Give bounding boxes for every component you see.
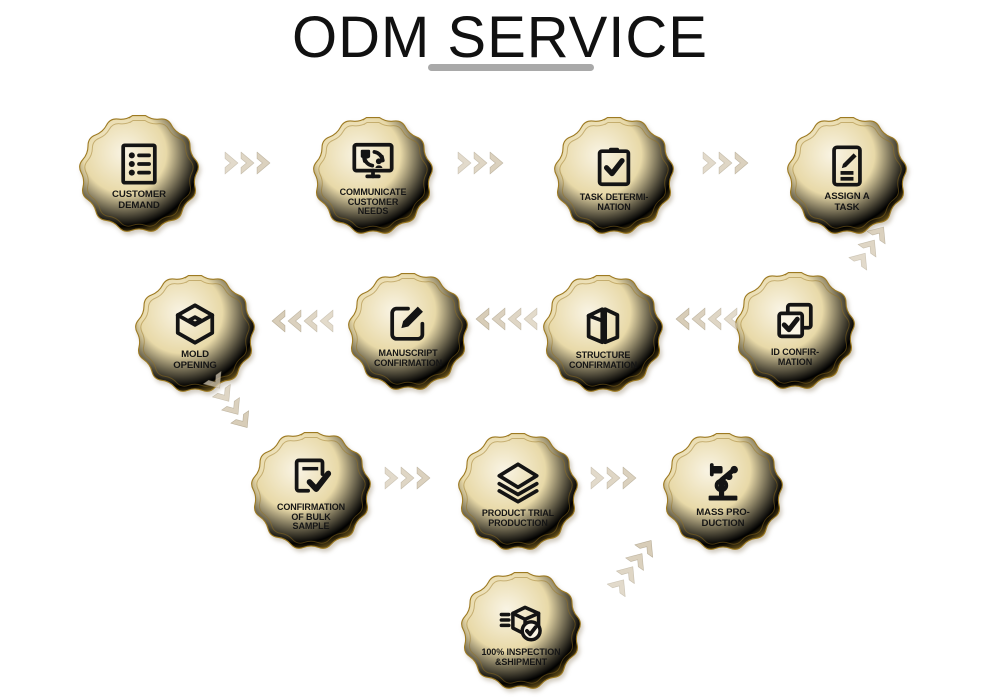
step-badge-communicate-customer-needs[interactable]: COMMUNICATE CUSTOMER NEEDS [310, 112, 436, 238]
chevron-left-icon [672, 306, 692, 332]
flow-arrow-left [472, 306, 540, 332]
chevron-left-icon [472, 306, 492, 332]
clipboard-check-icon [591, 144, 637, 190]
step-label-mass-production: MASS PRO- DUCTION [696, 508, 749, 529]
badge-content: ID CONFIR- MATION [732, 267, 858, 393]
badge-content: 100% INSPECTION &SHIPMENT [458, 567, 584, 693]
step-label-communicate-customer-needs: COMMUNICATE CUSTOMER NEEDS [340, 188, 407, 217]
badge-content: MOLD OPENING [132, 270, 258, 396]
flow-arrow-down-left [604, 530, 664, 601]
step-label-confirmation-of-bulk-sample: CONFIRMATION OF BULK SAMPLE [277, 503, 345, 532]
checklist-icon [116, 141, 162, 187]
cube-box-icon [172, 301, 218, 347]
badge-content: STRUCTURE CONFIRMATION [540, 270, 666, 396]
step-badge-customer-demand[interactable]: CUSTOMER DEMAND [76, 110, 202, 236]
badge-content: CUSTOMER DEMAND [76, 110, 202, 236]
chevron-right-icon [414, 465, 434, 491]
step-badge-mold-opening[interactable]: MOLD OPENING [132, 270, 258, 396]
package-check-icon [498, 599, 544, 645]
odm-service-flow-diagram: ODM SERVICE CUSTOMER DEMANDCOMMUNICATE C… [0, 0, 1000, 700]
edit-square-icon [385, 300, 431, 346]
flow-arrow-right [700, 150, 752, 176]
title-block: ODM SERVICE [0, 4, 1000, 72]
copy-check-icon [772, 299, 818, 345]
layers-icon [495, 460, 541, 506]
step-label-task-determination: TASK DETERMI- NATION [580, 193, 649, 212]
step-label-assign-a-task: ASSIGN A TASK [824, 192, 869, 213]
step-label-customer-demand: CUSTOMER DEMAND [112, 190, 166, 211]
badge-content: TASK DETERMI- NATION [551, 112, 677, 238]
chevron-left-icon [268, 308, 288, 334]
flow-arrow-right [588, 465, 640, 491]
page-title: ODM SERVICE [0, 4, 1000, 72]
step-label-structure-confirmation: STRUCTURE CONFIRMATION [569, 351, 637, 370]
structure-3d-icon [580, 302, 626, 348]
document-check-icon [288, 454, 334, 500]
step-badge-task-determination[interactable]: TASK DETERMI- NATION [551, 112, 677, 238]
chevron-right-icon [254, 150, 274, 176]
step-badge-assign-a-task[interactable]: ASSIGN A TASK [784, 112, 910, 238]
step-badge-structure-confirmation[interactable]: STRUCTURE CONFIRMATION [540, 270, 666, 396]
flow-arrow-right [222, 150, 274, 176]
step-badge-manuscript-confirmation[interactable]: MANUSCRIPT CONFIRMATION [345, 268, 471, 394]
badge-content: ASSIGN A TASK [784, 112, 910, 238]
flow-arrow-right [382, 465, 434, 491]
step-label-product-trial-production: PRODUCT TRIAL PRODUCTION [482, 509, 554, 528]
monitor-support-icon [350, 139, 396, 185]
badge-content: MASS PRO- DUCTION [660, 428, 786, 554]
badge-content: MANUSCRIPT CONFIRMATION [345, 268, 471, 394]
badge-content: COMMUNICATE CUSTOMER NEEDS [310, 112, 436, 238]
badge-content: PRODUCT TRIAL PRODUCTION [455, 428, 581, 554]
chevron-right-icon [732, 150, 752, 176]
flow-arrow-right [455, 150, 507, 176]
flow-arrow-left [268, 308, 336, 334]
title-underline [428, 64, 594, 71]
step-label-manuscript-confirmation: MANUSCRIPT CONFIRMATION [374, 349, 442, 368]
step-badge-inspection-shipment[interactable]: 100% INSPECTION &SHIPMENT [458, 567, 584, 693]
flow-arrow-left [672, 306, 740, 332]
chevron-right-icon [620, 465, 640, 491]
step-badge-id-confirmation[interactable]: ID CONFIR- MATION [732, 267, 858, 393]
chevron-right-icon [487, 150, 507, 176]
step-label-inspection-shipment: 100% INSPECTION &SHIPMENT [481, 648, 560, 667]
document-pen-icon [824, 143, 870, 189]
step-label-mold-opening: MOLD OPENING [173, 350, 217, 371]
step-badge-confirmation-of-bulk-sample[interactable]: CONFIRMATION OF BULK SAMPLE [248, 427, 374, 553]
robot-arm-icon [700, 459, 746, 505]
step-label-id-confirmation: ID CONFIR- MATION [771, 348, 819, 367]
step-badge-product-trial-production[interactable]: PRODUCT TRIAL PRODUCTION [455, 428, 581, 554]
step-badge-mass-production[interactable]: MASS PRO- DUCTION [660, 428, 786, 554]
badge-content: CONFIRMATION OF BULK SAMPLE [248, 427, 374, 553]
